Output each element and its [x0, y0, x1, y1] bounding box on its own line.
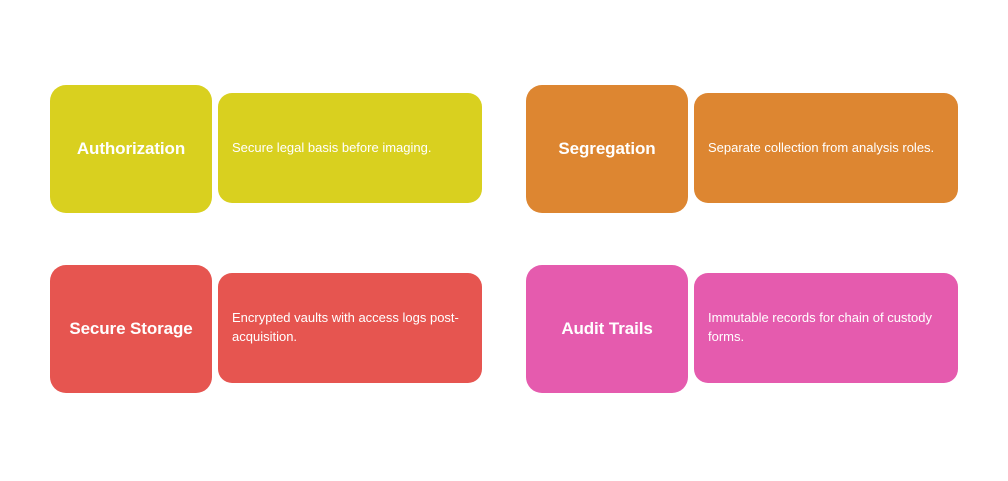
card-description-label: Immutable records for chain of custody f…: [708, 309, 944, 347]
card-segregation[interactable]: Segregation Separate collection from ana…: [526, 85, 958, 213]
card-title-block-segregation[interactable]: Segregation: [526, 85, 688, 213]
card-title-block-secure-storage[interactable]: Secure Storage: [50, 265, 212, 393]
card-title-label: Authorization: [77, 138, 185, 159]
card-audit-trails[interactable]: Audit Trails Immutable records for chain…: [526, 265, 958, 393]
card-title-label: Segregation: [558, 138, 655, 159]
card-description-panel-audit-trails[interactable]: Immutable records for chain of custody f…: [694, 273, 958, 383]
card-description-label: Secure legal basis before imaging.: [232, 139, 431, 158]
card-authorization[interactable]: Authorization Secure legal basis before …: [50, 85, 482, 213]
card-title-label: Secure Storage: [69, 318, 192, 339]
card-description-panel-secure-storage[interactable]: Encrypted vaults with access logs post-a…: [218, 273, 482, 383]
card-description-panel-segregation[interactable]: Separate collection from analysis roles.: [694, 93, 958, 203]
card-grid: Authorization Secure legal basis before …: [50, 85, 958, 393]
card-description-panel-authorization[interactable]: Secure legal basis before imaging.: [218, 93, 482, 203]
card-title-block-audit-trails[interactable]: Audit Trails: [526, 265, 688, 393]
card-title-block-authorization[interactable]: Authorization: [50, 85, 212, 213]
card-secure-storage[interactable]: Secure Storage Encrypted vaults with acc…: [50, 265, 482, 393]
infographic-board: Authorization Secure legal basis before …: [0, 0, 1008, 481]
card-description-label: Encrypted vaults with access logs post-a…: [232, 309, 468, 347]
card-description-label: Separate collection from analysis roles.: [708, 139, 934, 158]
card-title-label: Audit Trails: [561, 318, 652, 339]
